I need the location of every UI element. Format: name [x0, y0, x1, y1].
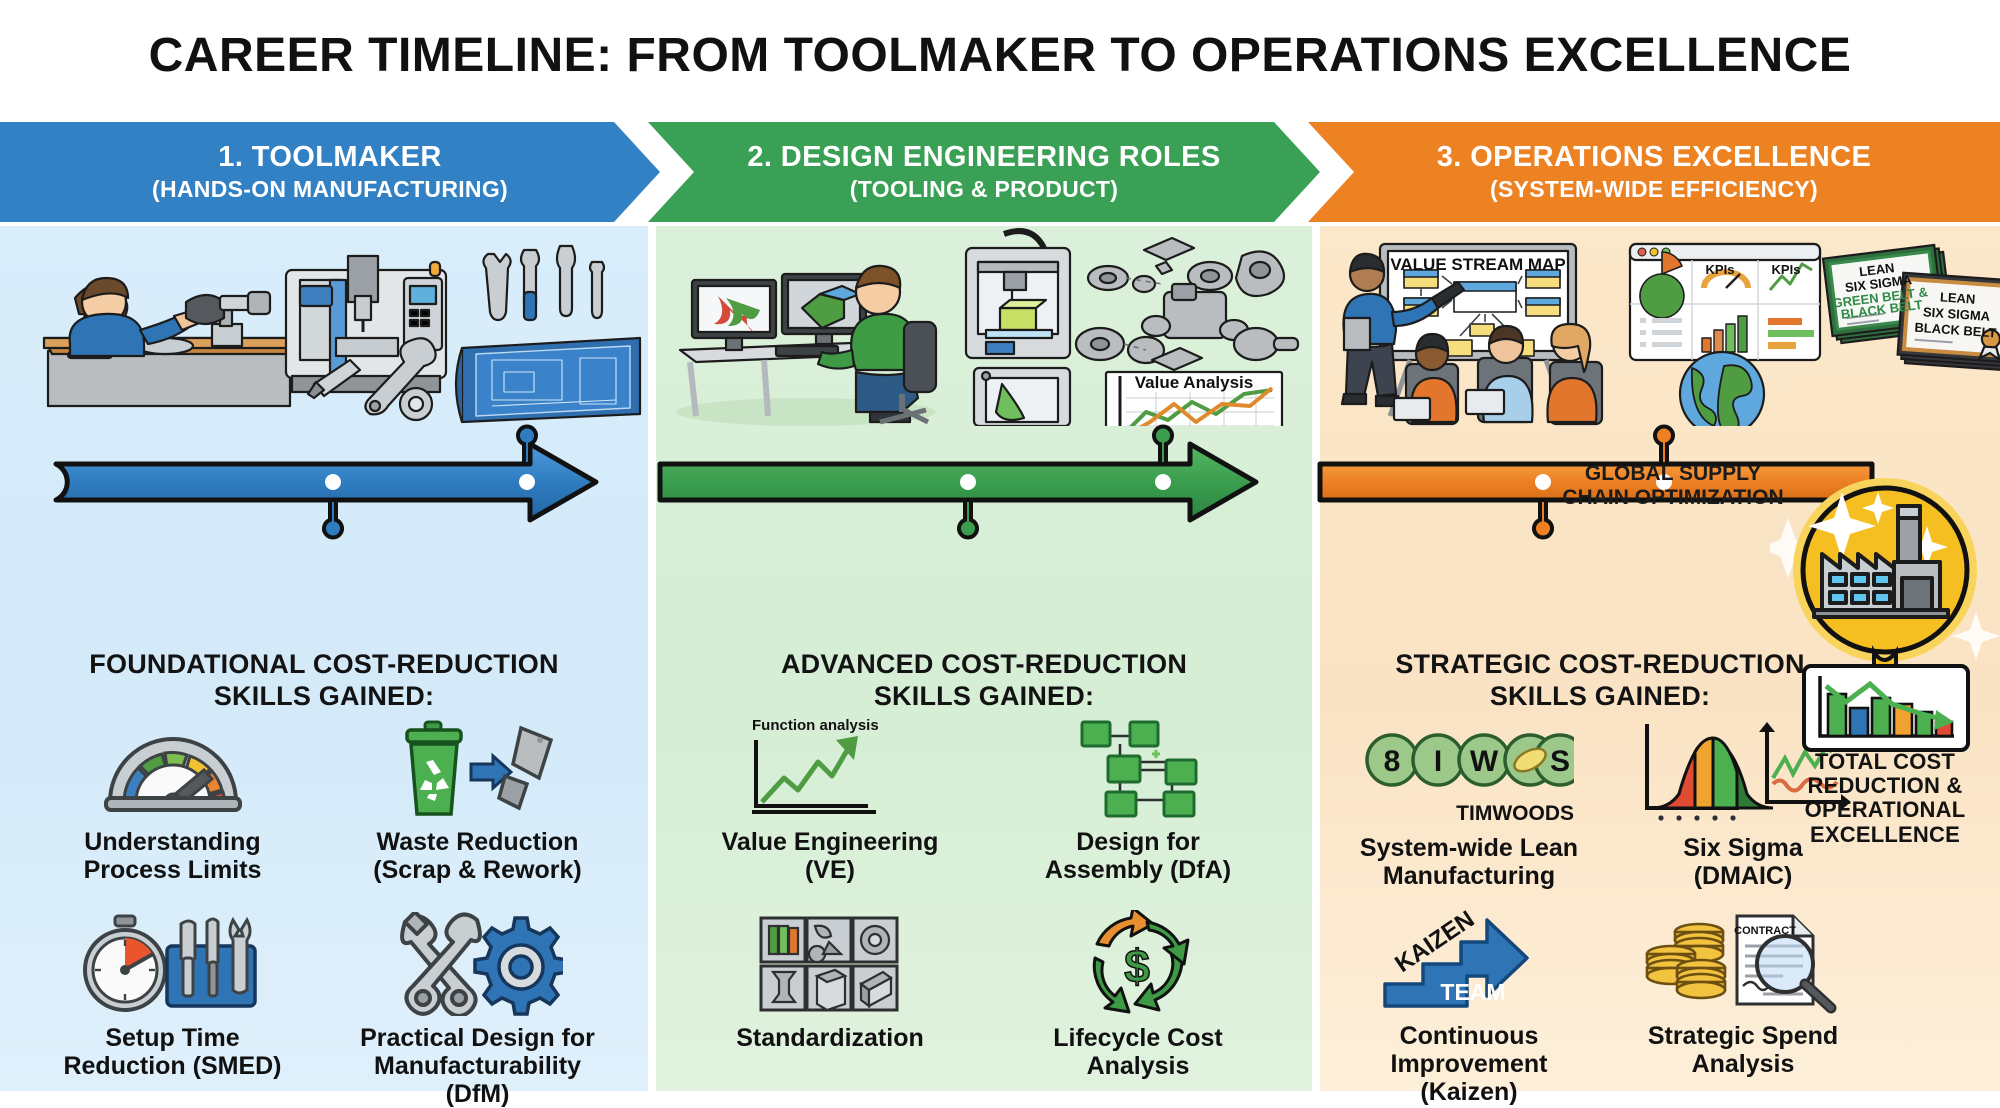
assembly-nodes-icon: [1068, 712, 1208, 820]
skill-label: Waste Reduction(Scrap & Rework): [373, 828, 581, 884]
dollar-lifecycle-icon: $: [1073, 908, 1203, 1016]
skill-label: Strategic SpendAnalysis: [1648, 1022, 1838, 1078]
stage-1-name: 1. TOOLMAKER: [218, 142, 441, 172]
skill-standardization[interactable]: Standardization: [676, 908, 984, 1080]
milestone-dot: [519, 474, 535, 490]
stage-1-subtitle: (HANDS-ON MANUFACTURING): [152, 176, 508, 202]
stopwatch-tools-icon: [83, 908, 263, 1016]
timwoods-caption: TIMWOODS: [1456, 802, 1574, 826]
skill-design-for-assembly[interactable]: Design forAssembly (DfA): [984, 712, 1292, 884]
skills-heading-2: ADVANCED COST-REDUCTION SKILLS GAINED:: [656, 648, 1312, 713]
skill-label: Lifecycle CostAnalysis: [1053, 1024, 1223, 1080]
wrench-gear-icon: [393, 908, 563, 1016]
design-engineering-scene: Value Analysis: [656, 226, 1312, 426]
operations-excellence-scene: VALUE STREAM MAP KPIs KPIs: [1320, 226, 2000, 426]
skill-label: ContinuousImprovement(Kaizen): [1391, 1022, 1548, 1106]
kaizen-stairs-icon: KAIZEN TEAM: [1369, 906, 1569, 1014]
skill-label: Setup TimeReduction (SMED): [63, 1024, 281, 1080]
skill-label: Value Engineering(VE): [722, 828, 939, 884]
infographic-canvas: CAREER TIMELINE: FROM TOOLMAKER TO OPERA…: [0, 0, 2000, 1091]
skill-system-wide-lean[interactable]: 8IWS TIMWOODS System-wide LeanManufactur…: [1332, 706, 1606, 890]
skill-label: System-wide LeanManufacturing: [1360, 834, 1578, 890]
skills-heading-1: FOUNDATIONAL COST-REDUCTION SKILLS GAINE…: [0, 648, 648, 713]
recycle-bin-scrap-icon: [393, 712, 563, 820]
end-badge: TOTAL COST REDUCTION & OPERATIONAL EXCEL…: [1770, 470, 2000, 870]
skill-lifecycle-cost-analysis[interactable]: $ Lifecycle CostAnalysis: [984, 908, 1292, 1080]
standard-parts-grid-icon: [755, 908, 905, 1016]
skill-label: Design forAssembly (DfA): [1045, 828, 1231, 884]
end-badge-caption: TOTAL COST REDUCTION & OPERATIONAL EXCEL…: [1770, 750, 2000, 847]
stage-3-subtitle: (SYSTEM-WIDE EFFICIENCY): [1490, 176, 1818, 202]
skill-label: Standardization: [736, 1024, 924, 1052]
svg-text:LEAN: LEAN: [1940, 289, 1976, 306]
value-stream-map-title: VALUE STREAM MAP: [1390, 255, 1565, 274]
skill-value-engineering[interactable]: Function analysis Value Engineering(VE): [676, 712, 984, 884]
svg-text:S: S: [1550, 745, 1570, 778]
function-analysis-chart-icon: Function analysis: [740, 712, 920, 820]
skills-grid-2: Function analysis Value Engineering(VE): [676, 712, 1292, 1080]
coins-contract-magnifier-icon: CONTRACT: [1643, 906, 1843, 1014]
skill-setup-time-reduction[interactable]: Setup TimeReduction (SMED): [20, 908, 325, 1108]
skill-waste-reduction[interactable]: Waste Reduction(Scrap & Rework): [325, 712, 630, 884]
skill-continuous-improvement[interactable]: KAIZEN TEAM ContinuousImprovement(Kaizen…: [1332, 906, 1606, 1106]
infographic-title-bar: CAREER TIMELINE: FROM TOOLMAKER TO OPERA…: [0, 0, 2000, 110]
skill-label: Practical Design forManufacturability(Df…: [360, 1024, 595, 1108]
svg-text:W: W: [1470, 745, 1499, 778]
svg-text:I: I: [1434, 745, 1442, 778]
toolmaker-scene: [0, 226, 648, 426]
stage-header-1[interactable]: 1. TOOLMAKER (HANDS-ON MANUFACTURING): [0, 122, 660, 222]
factory-magnifier-icon: [1770, 470, 2000, 760]
stage-3-name: 3. OPERATIONS EXCELLENCE: [1437, 142, 1871, 172]
kpi-label-2: KPIs: [1772, 262, 1801, 277]
skill-understanding-process-limits[interactable]: UnderstandingProcess Limits: [20, 712, 325, 884]
skills-grid-1: UnderstandingProcess Limits: [20, 712, 630, 1108]
stage-2-name: 2. DESIGN ENGINEERING ROLES: [747, 142, 1220, 172]
timeline-arrow-stage-2: [660, 427, 1256, 538]
skill-strategic-spend-analysis[interactable]: CONTRACT Strategic SpendAnalysis: [1606, 906, 1880, 1106]
gauge-icon: [98, 712, 248, 820]
timeline-arrow-stage-1: [56, 427, 596, 538]
stage-header-3[interactable]: 3. OPERATIONS EXCELLENCE (SYSTEM-WIDE EF…: [1308, 122, 2000, 222]
value-analysis-card-title: Value Analysis: [1135, 373, 1253, 392]
milestone-dot: [325, 474, 341, 490]
kpi-label-1: KPIs: [1706, 262, 1735, 277]
function-analysis-caption: Function analysis: [752, 717, 879, 734]
timwoods-icon: 8IWS TIMWOODS: [1364, 706, 1574, 826]
stage-header-2[interactable]: 2. DESIGN ENGINEERING ROLES (TOOLING & P…: [648, 122, 1320, 222]
milestone-dot: [960, 474, 976, 490]
skill-label: UnderstandingProcess Limits: [84, 828, 262, 884]
milestone-dot: [1155, 474, 1171, 490]
stage-2-subtitle: (TOOLING & PRODUCT): [850, 176, 1118, 202]
team-word: TEAM: [1440, 979, 1505, 1005]
dollar-symbol: $: [1124, 940, 1150, 992]
page-title: CAREER TIMELINE: FROM TOOLMAKER TO OPERA…: [149, 28, 1852, 83]
skill-practical-dfm[interactable]: Practical Design forManufacturability(Df…: [325, 908, 630, 1108]
svg-text:8: 8: [1384, 745, 1401, 778]
